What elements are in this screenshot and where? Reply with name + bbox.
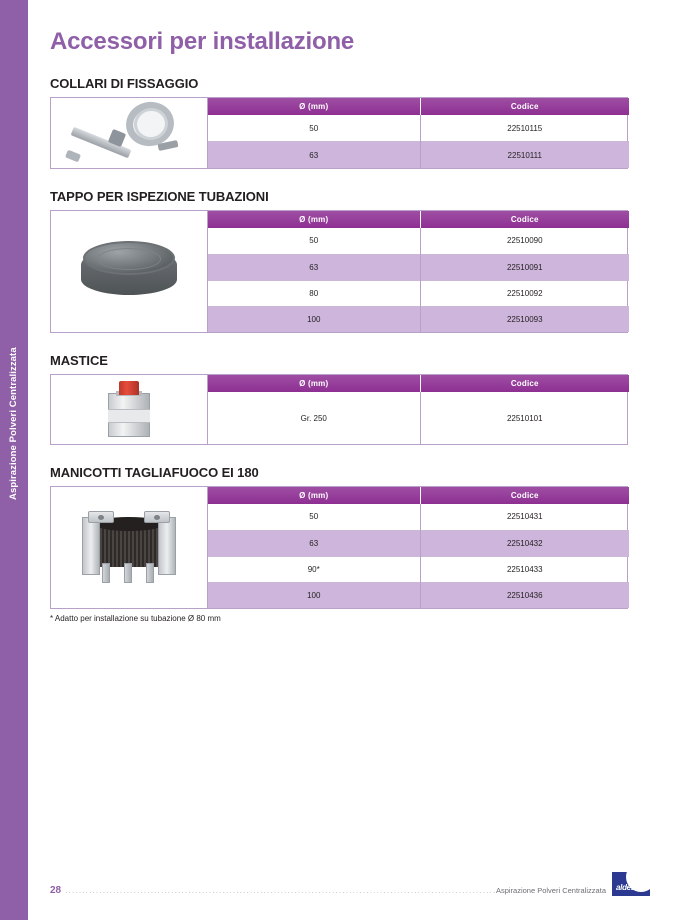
column-header-code: Codice <box>420 375 629 392</box>
page-title: Accessori per installazione <box>50 0 650 56</box>
spec-table: Ø (mm) Codice 50 22510090 63 22510091 <box>208 211 629 332</box>
section-tappo-per-ispezione-tubazioni: TAPPO PER ISPEZIONE TUBAZIONI Ø (mm) Cod… <box>50 189 650 333</box>
cell-code: 22510101 <box>420 392 629 444</box>
column-header-diameter: Ø (mm) <box>208 211 420 228</box>
cell-diameter: 50 <box>208 504 420 530</box>
cell-code: 22510431 <box>420 504 629 530</box>
section-title: MASTICE <box>50 353 650 368</box>
section-block: Ø (mm) Codice Gr. 250 22510101 <box>50 374 628 445</box>
cell-diameter: 50 <box>208 228 420 254</box>
section-title: COLLARI DI FISSAGGIO <box>50 76 650 91</box>
cell-diameter: 80 <box>208 280 420 306</box>
table-row: 63 22510091 <box>208 254 629 280</box>
footer-caption: Aspirazione Polveri Centralizzata <box>496 886 606 895</box>
page-footer: 28 .....................................… <box>50 872 650 896</box>
column-header-diameter: Ø (mm) <box>208 487 420 504</box>
table-row: 100 22510093 <box>208 306 629 332</box>
section-manicotti-tagliafuoco: MANICOTTI TAGLIAFUOCO EI 180 <box>50 465 650 623</box>
table-row: 50 22510090 <box>208 228 629 254</box>
table-row: 63 22510111 <box>208 142 629 169</box>
table-row: 50 22510431 <box>208 504 629 530</box>
table-header-row: Ø (mm) Codice <box>208 375 629 392</box>
table-row: 50 22510115 <box>208 115 629 142</box>
product-image-cell <box>51 98 208 168</box>
table-row: Gr. 250 22510101 <box>208 392 629 444</box>
cell-diameter: Gr. 250 <box>208 392 420 444</box>
column-header-diameter: Ø (mm) <box>208 375 420 392</box>
catalog-page: Aspirazione Polveri Centralizzata Access… <box>0 0 678 920</box>
product-image-cell <box>51 487 208 608</box>
footer-dotted-rule: ........................................… <box>65 886 496 896</box>
cell-diameter: 90* <box>208 556 420 582</box>
column-header-diameter: Ø (mm) <box>208 98 420 115</box>
column-header-code: Codice <box>420 487 629 504</box>
page-number: 28 <box>50 885 61 896</box>
fire-collar-photo <box>74 507 184 589</box>
cell-code: 22510092 <box>420 280 629 306</box>
cell-code: 22510111 <box>420 142 629 169</box>
cell-diameter: 63 <box>208 254 420 280</box>
spec-table: Ø (mm) Codice 50 22510115 63 22510111 <box>208 98 629 168</box>
section-footnote: * Adatto per installazione su tubazione … <box>50 614 650 623</box>
table-header-row: Ø (mm) Codice <box>208 487 629 504</box>
sidebar-vertical-bar: Aspirazione Polveri Centralizzata <box>0 0 28 920</box>
section-block: Ø (mm) Codice 50 22510090 63 22510091 <box>50 210 628 333</box>
cell-code: 22510090 <box>420 228 629 254</box>
adhesive-can-photo <box>108 379 150 441</box>
table-row: 100 22510436 <box>208 582 629 608</box>
table-row: 63 22510432 <box>208 530 629 556</box>
logo-brand-text: aldes <box>616 883 635 892</box>
cell-code: 22510432 <box>420 530 629 556</box>
cell-diameter: 100 <box>208 582 420 608</box>
table-row: 90* 22510433 <box>208 556 629 582</box>
column-header-code: Codice <box>420 98 629 115</box>
product-image-cell <box>51 375 208 444</box>
page-content: Accessori per installazione COLLARI DI F… <box>50 0 650 623</box>
cell-code: 22510436 <box>420 582 629 608</box>
cell-code: 22510093 <box>420 306 629 332</box>
cell-diameter: 63 <box>208 142 420 169</box>
cell-code: 22510433 <box>420 556 629 582</box>
pipe-clamp-photo <box>64 98 194 168</box>
cell-diameter: 50 <box>208 115 420 142</box>
inspection-cap-photo <box>81 241 177 303</box>
spec-table: Ø (mm) Codice Gr. 250 22510101 <box>208 375 629 444</box>
section-collari-di-fissaggio: COLLARI DI FISSAGGIO Ø (mm) <box>50 76 650 169</box>
spec-table: Ø (mm) Codice 50 22510431 63 22510432 <box>208 487 629 608</box>
cell-diameter: 63 <box>208 530 420 556</box>
product-image-cell <box>51 211 208 332</box>
column-header-code: Codice <box>420 211 629 228</box>
table-row: 80 22510092 <box>208 280 629 306</box>
table-header-row: Ø (mm) Codice <box>208 98 629 115</box>
section-block: Ø (mm) Codice 50 22510115 63 22510111 <box>50 97 628 169</box>
aldes-logo: aldes <box>612 872 650 896</box>
sidebar-vertical-label: Aspirazione Polveri Centralizzata <box>8 472 19 500</box>
cell-code: 22510115 <box>420 115 629 142</box>
section-mastice: MASTICE Ø (mm) Codice <box>50 353 650 445</box>
cell-code: 22510091 <box>420 254 629 280</box>
section-title: MANICOTTI TAGLIAFUOCO EI 180 <box>50 465 650 480</box>
table-header-row: Ø (mm) Codice <box>208 211 629 228</box>
section-block: Ø (mm) Codice 50 22510431 63 22510432 <box>50 486 628 609</box>
section-title: TAPPO PER ISPEZIONE TUBAZIONI <box>50 189 650 204</box>
cell-diameter: 100 <box>208 306 420 332</box>
